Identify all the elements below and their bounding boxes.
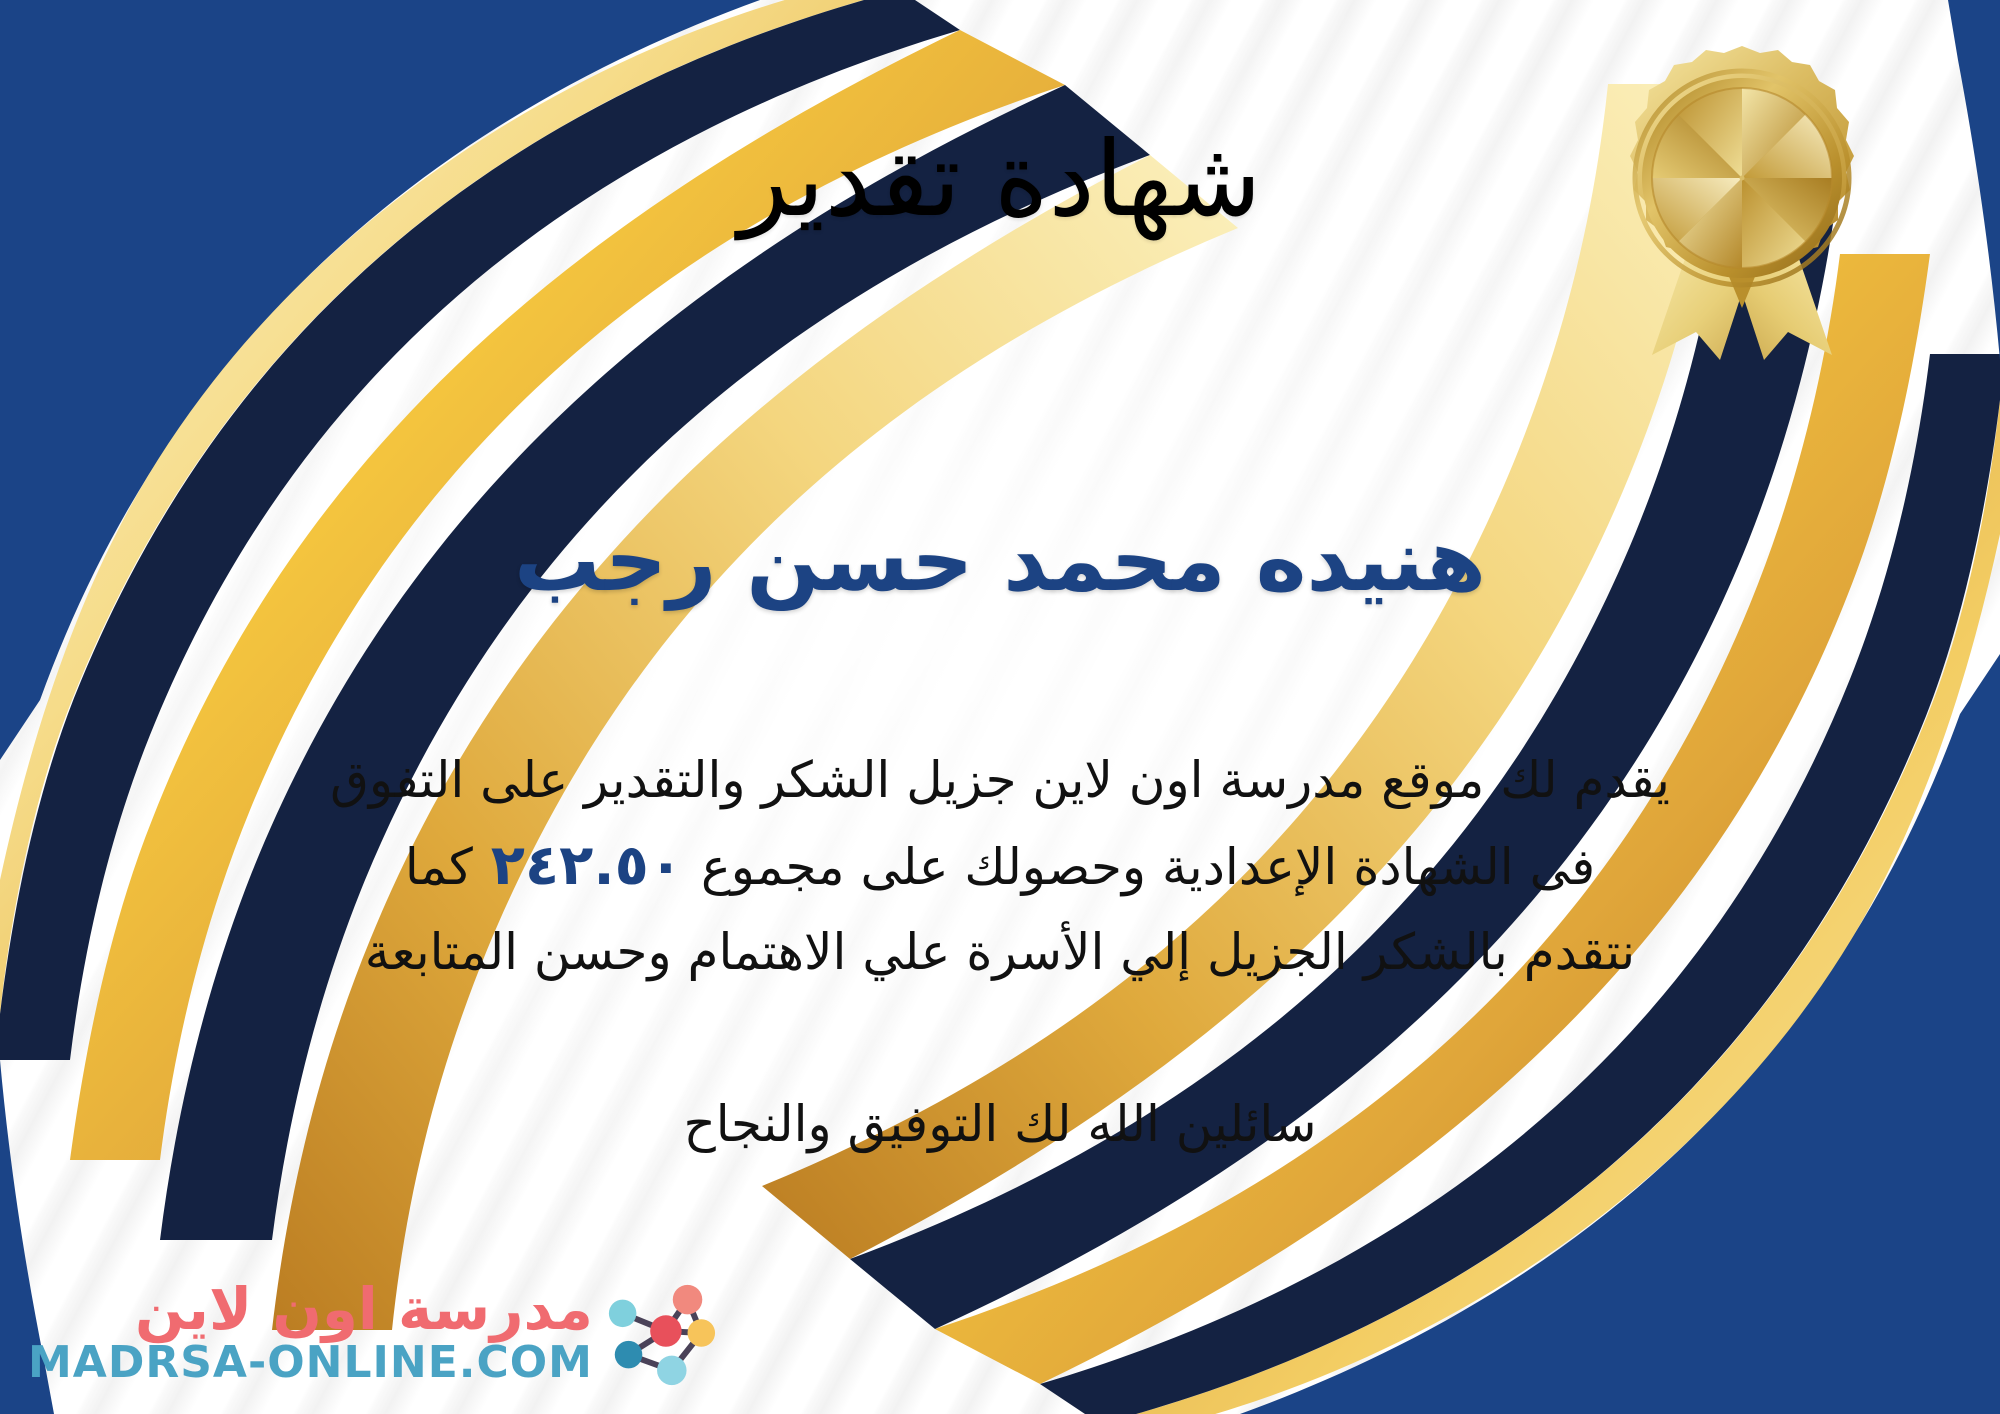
closing-wish: سائلين الله لك التوفيق والنجاح — [0, 1095, 2000, 1153]
brand-website-url: MADRSA-ONLINE.COM — [28, 1340, 593, 1386]
recipient-name: هنيده محمد حسن رجب — [0, 510, 2000, 613]
body-line-2-suffix: كما — [405, 838, 473, 896]
network-nodes-icon — [601, 1274, 719, 1392]
total-score-value: ٢٤٢.٥٠ — [473, 833, 701, 898]
body-paragraph: يقدم لك موقع مدرسة اون لاين جزيل الشكر و… — [60, 740, 1940, 993]
brand-name-arabic: مدرسة اون لاين — [135, 1279, 593, 1340]
body-line-2: فى الشهادة الإعدادية وحصولك على مجموع٢٤٢… — [60, 821, 1940, 912]
body-line-3: نتقدم بالشكر الجزيل إلي الأسرة علي الاهت… — [60, 912, 1940, 993]
body-line-2-prefix: فى الشهادة الإعدادية وحصولك على مجموع — [701, 838, 1595, 896]
brand-logo[interactable]: مدرسة اون لاين MADRSA-ONLINE.COM — [28, 1274, 719, 1392]
gold-award-medal-icon — [1610, 40, 1875, 360]
certificate-canvas: شهادة تقدير هنيده محمد حسن رجب يقدم لك م… — [0, 0, 2000, 1414]
brand-text-block: مدرسة اون لاين MADRSA-ONLINE.COM — [28, 1279, 593, 1386]
body-line-1: يقدم لك موقع مدرسة اون لاين جزيل الشكر و… — [60, 740, 1940, 821]
